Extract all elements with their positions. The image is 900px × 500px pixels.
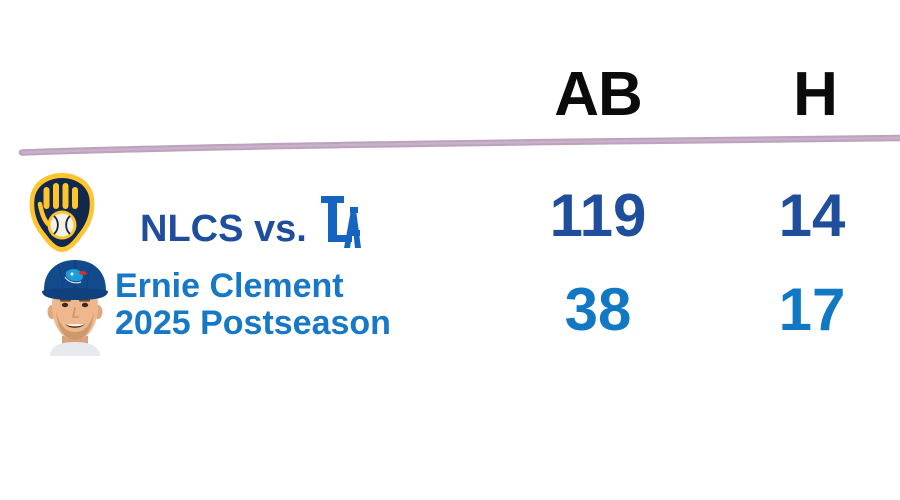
- column-header-ab: AB: [554, 64, 642, 126]
- cell-ab: 119: [550, 186, 647, 246]
- milwaukee-brewers-logo: [26, 170, 98, 261]
- column-header-h: H: [793, 64, 837, 126]
- player-headshot: [32, 250, 118, 361]
- player-name: Ernie Clement: [115, 268, 391, 305]
- stat-comparison-card: AB H: [0, 0, 900, 500]
- table-row: Ernie Clement 2025 Postseason 38 17: [0, 250, 900, 360]
- table-row: NLCS vs.: [0, 168, 900, 260]
- cell-h: 14: [779, 186, 846, 246]
- row-label-player: Ernie Clement 2025 Postseason: [115, 268, 391, 341]
- cell-h: 17: [779, 280, 846, 340]
- divider-line: [0, 128, 900, 162]
- matchup-text: NLCS vs.: [140, 208, 307, 251]
- player-season: 2025 Postseason: [115, 305, 391, 342]
- cell-ab: 38: [565, 280, 632, 340]
